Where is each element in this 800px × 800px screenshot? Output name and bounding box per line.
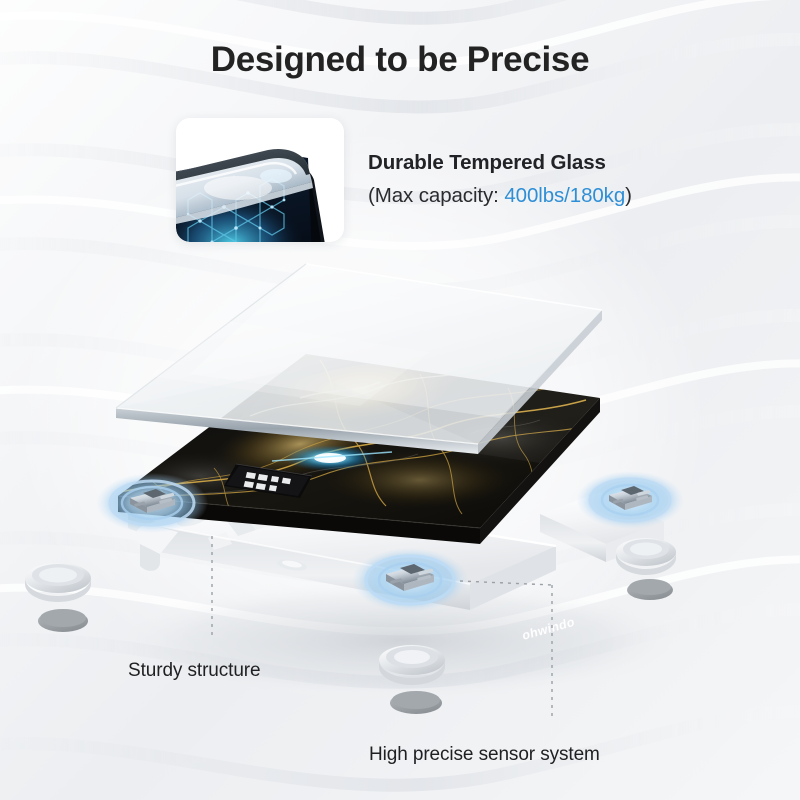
tempered-glass-panel-thumbnail [176,118,344,242]
exploded-product-view: ohwindo [0,248,800,718]
feature-text-block: Durable Tempered Glass (Max capacity: 40… [368,150,632,210]
feature-callout: Durable Tempered Glass (Max capacity: 40… [176,118,632,242]
sensor-front [352,548,468,612]
foot-left [25,563,91,632]
capacity-suffix: ) [625,184,632,207]
feature-title: Durable Tempered Glass [368,150,632,176]
foot-front-center [379,645,445,714]
foot-right-rear [616,538,676,600]
capacity-prefix: (Max capacity: [368,184,504,207]
feature-capacity-line: (Max capacity: 400lbs/180kg) [368,183,632,209]
sensor-left [96,473,208,533]
high-precise-sensor-system-label: High precise sensor system [369,744,600,766]
page-title: Designed to be Precise [0,40,800,80]
capacity-value: 400lbs/180kg [504,184,625,207]
infographic-canvas: Designed to be Precise [0,0,800,800]
sturdy-structure-label: Sturdy structure [128,660,261,682]
sensor-right [576,471,684,529]
